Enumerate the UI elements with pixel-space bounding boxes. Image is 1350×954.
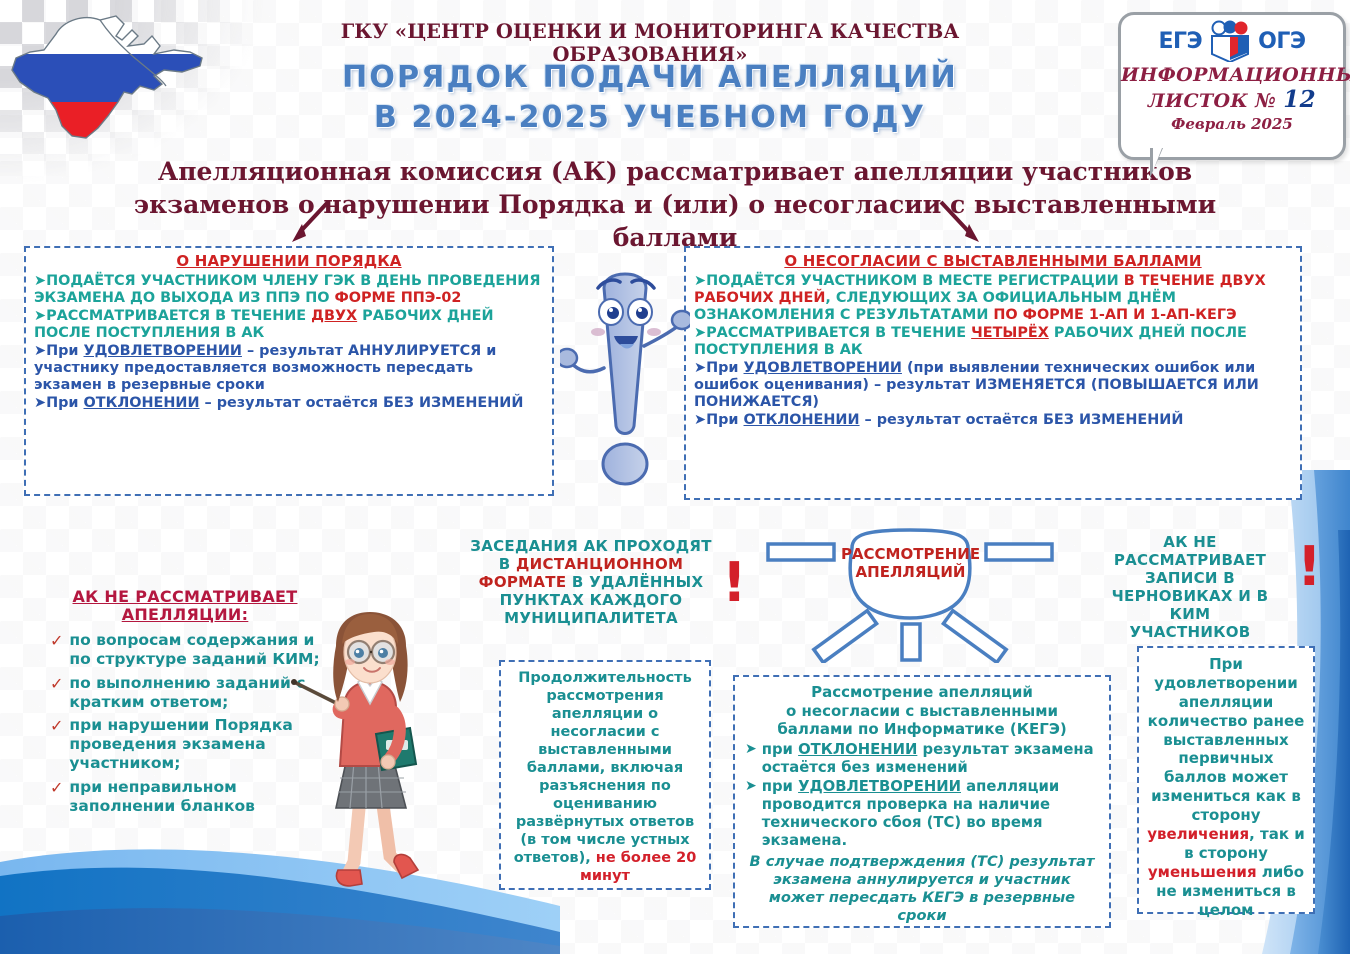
bullet-arrow-icon: ➤ (34, 308, 46, 324)
not-considered-item-1: по вопросам содержания и по структуре за… (69, 631, 320, 669)
kege-title-line2: о несогласии с выставленными (745, 702, 1099, 721)
points-text-1: При удовлетворении апелляции количество … (1148, 655, 1305, 824)
bubble-line-date: Февраль 2025 (1121, 115, 1343, 133)
crimea-map-russian-flag-icon (4, 6, 222, 151)
disagreement-box-heading: О НЕСОГЛАСИИ С ВЫСТАВЛЕННЫМИ БАЛЛАМИ (694, 252, 1292, 270)
kege-item-1-a: при (762, 741, 798, 758)
violation-item-4-part-1: При (46, 395, 83, 411)
points-text-accent-increase: увеличения (1147, 825, 1249, 843)
remote-note-line1: ЗАСЕДАНИЯ АК ПРОХОДЯТ (466, 537, 716, 555)
sheet-number: 12 (1283, 86, 1316, 113)
infographic-poster: ГКУ «ЦЕНТР ОЦЕНКИ И МОНИТОРИНГА КАЧЕСТВА… (0, 0, 1350, 954)
remote-note-line2: В ДИСТАНЦИОННОМ (466, 555, 716, 573)
disagreement-item-2-highlight: ЧЕТЫРЁХ (971, 325, 1049, 341)
disagreement-item-3: ➤При УДОВЛЕТВОРЕНИИ (при выявлении техни… (694, 360, 1292, 411)
disagreement-item-2-part-1: РАССМАТРИВАЕТСЯ В ТЕЧЕНИЕ (706, 325, 971, 341)
not-considered-heading: АК НЕ РАССМАТРИВАЕТ АПЕЛЛЯЦИИ: (50, 588, 320, 625)
violation-item-2-part-1: РАССМАТРИВАЕТСЯ В ТЕЧЕНИЕ (46, 308, 311, 324)
disagreement-item-4-highlight: ОТКЛОНЕНИИ (744, 412, 860, 428)
kege-item-1: ➤ при ОТКЛОНЕНИИ результат экзамена оста… (745, 741, 1099, 777)
remote-note-line3: ФОРМАТЕ В УДАЛЁННЫХ (466, 573, 716, 591)
disagreement-item-4-part-3: – результат остаётся БЕЗ ИЗМЕНЕНИЙ (860, 412, 1184, 428)
drafts-note-line3: ЗАПИСИ В (1090, 569, 1290, 587)
remote-note-line3-a: В УДАЛЁННЫХ (566, 573, 703, 591)
kege-title-line3: баллами по Информатике (КЕГЭ) (745, 720, 1099, 739)
drafts-note-line1: АК НЕ (1090, 533, 1290, 551)
disagreement-item-1: ➤ПОДАЁТСЯ УЧАСТНИКОМ В МЕСТЕ РЕГИСТРАЦИИ… (694, 273, 1292, 324)
drafts-note-line4: ЧЕРНОВИКАХ И В КИМ (1090, 587, 1290, 623)
violation-item-4-part-3: – результат остаётся БЕЗ ИЗМЕНЕНИЙ (200, 395, 524, 411)
bullet-arrow-icon: ➤ (34, 395, 46, 411)
kege-title-line1: Рассмотрение апелляций (745, 683, 1099, 702)
bullet-arrow-icon: ➤ (694, 360, 706, 376)
remote-sessions-note: ЗАСЕДАНИЯ АК ПРОХОДЯТ В ДИСТАНЦИОННОМ ФО… (466, 537, 716, 627)
kege-item-1-highlight: ОТКЛОНЕНИИ (798, 741, 917, 758)
shield-line2: АПЕЛЛЯЦИЙ (838, 563, 983, 581)
drafts-not-considered-note: АК НЕ РАССМАТРИВАЕТ ЗАПИСИ В ЧЕРНОВИКАХ … (1090, 533, 1290, 641)
bullet-arrow-icon: ➤ (34, 343, 46, 359)
disagreement-item-2: ➤РАССМАТРИВАЕТСЯ В ТЕЧЕНИЕ ЧЕТЫРЁХ РАБОЧ… (694, 325, 1292, 359)
ege-oge-logo: ЕГЭ ОГЭ (1121, 19, 1343, 63)
points-box-text: При удовлетворении апелляции количество … (1147, 655, 1305, 919)
drafts-note-line5: УЧАСТНИКОВ (1090, 623, 1290, 641)
check-icon: ✓ (50, 778, 63, 816)
violation-item-1-part-1: ПОДАЁТСЯ УЧАСТНИКОМ ЧЛЕНУ ГЭК В ДЕНЬ ПРО… (34, 273, 540, 306)
remote-note-line3-accent: ФОРМАТЕ (479, 573, 567, 591)
violation-box-heading: О НАРУШЕНИИ ПОРЯДКА (34, 252, 544, 270)
list-item: ✓ по вопросам содержания и по структуре … (50, 631, 320, 669)
disagreement-item-1-highlight-2: ПО ФОРМЕ 1-АП И 1-АП-КЕГЭ (993, 307, 1236, 323)
violation-item-2: ➤РАССМАТРИВАЕТСЯ В ТЕЧЕНИЕ ДВУХ РАБОЧИХ … (34, 308, 544, 342)
bullet-arrow-icon: ➤ (745, 778, 757, 850)
ege-oge-emblem-icon (1204, 20, 1256, 62)
oge-label: ОГЭ (1258, 29, 1305, 54)
bullet-arrow-icon: ➤ (34, 273, 46, 289)
sheet-label: ЛИСТОК № (1148, 90, 1283, 112)
arrow-to-left-box (286, 198, 336, 248)
violation-of-order-box: О НАРУШЕНИИ ПОРЯДКА ➤ПОДАЁТСЯ УЧАСТНИКОМ… (24, 246, 554, 496)
list-item: ✓ при нарушении Порядка проведения экзам… (50, 716, 320, 773)
check-icon: ✓ (50, 674, 63, 712)
arrow-to-right-box (935, 198, 985, 248)
page-title-line2: В 2024-2025 УЧЕБНОМ ГОДУ (300, 98, 1000, 138)
points-change-box: При удовлетворении апелляции количество … (1137, 646, 1315, 914)
violation-item-4: ➤При ОТКЛОНЕНИИ – результат остаётся БЕЗ… (34, 395, 544, 412)
remote-note-line4: ПУНКТАХ КАЖДОГО (466, 591, 716, 609)
bubble-tail-inner (1153, 148, 1173, 171)
violation-item-1-part-2: ФОРМЕ ППЭ-02 (334, 290, 461, 306)
not-considered-heading-line1: АК НЕ РАССМАТРИВАЕТ (50, 588, 320, 606)
kege-item-2-highlight: УДОВЛЕТВОРЕНИИ (798, 778, 961, 795)
bottom-left-wave-decoration (0, 820, 560, 954)
info-sheet-bubble: ЕГЭ ОГЭ ИНФОРМАЦИОННЫЙ ЛИСТОК № 12 Февра… (1118, 12, 1346, 160)
exclamation-mark-right: ! (1297, 545, 1322, 588)
teacher-girl-with-pointer-icon (290, 612, 465, 902)
bullet-arrow-icon: ➤ (745, 741, 757, 777)
subtitle-line2: экзаменов о нарушении Порядка и (или) о … (95, 188, 1255, 254)
exclamation-mark-mascot-icon (560, 258, 690, 486)
list-item: ✓ по выполнению заданий с кратким ответо… (50, 674, 320, 712)
violation-item-2-highlight: ДВУХ (311, 308, 357, 324)
kege-box-title: Рассмотрение апелляций о несогласии с вы… (745, 683, 1099, 739)
violation-item-4-highlight: ОТКЛОНЕНИИ (84, 395, 200, 411)
kege-box-footer: В случае подтверждения (ТС) результат эк… (745, 853, 1099, 925)
ege-label: ЕГЭ (1158, 29, 1202, 54)
disagreement-item-1-part-1: ПОДАЁТСЯ УЧАСТНИКОМ В МЕСТЕ РЕГИСТРАЦИИ (706, 273, 1124, 289)
review-appeals-shield-label: РАССМОТРЕНИЕ АПЕЛЛЯЦИЙ (838, 545, 983, 581)
kege-review-box: Рассмотрение апелляций о несогласии с вы… (733, 675, 1111, 928)
page-title: ПОРЯДОК ПОДАЧИ АПЕЛЛЯЦИЙ В 2024-2025 УЧЕ… (300, 58, 1000, 138)
duration-box: Продолжительность рассмотрения апелляции… (499, 660, 711, 890)
violation-item-3-highlight: УДОВЛЕТВОРЕНИИ (84, 343, 242, 359)
bubble-line-informational: ИНФОРМАЦИОННЫЙ (1121, 64, 1343, 86)
bullet-arrow-icon: ➤ (694, 325, 706, 341)
remote-note-line2-a: В (499, 555, 516, 573)
kege-item-2-a: при (762, 778, 798, 795)
subtitle-line1: Апелляционная комиссия (АК) рассматривае… (95, 155, 1255, 188)
exclamation-mark-left: ! (722, 561, 747, 604)
disagreement-item-3-highlight: УДОВЛЕТВОРЕНИИ (744, 360, 902, 376)
disagreement-with-scores-box: О НЕСОГЛАСИИ С ВЫСТАВЛЕННЫМИ БАЛЛАМИ ➤ПО… (684, 246, 1302, 500)
not-considered-item-4: при неправильном заполнении бланков (69, 778, 320, 816)
check-icon: ✓ (50, 716, 63, 773)
not-considered-block: АК НЕ РАССМАТРИВАЕТ АПЕЛЛЯЦИИ: ✓ по вопр… (50, 588, 320, 816)
remote-note-line5: МУНИЦИПАЛИТЕТА (466, 609, 716, 627)
subtitle: Апелляционная комиссия (АК) рассматривае… (95, 155, 1255, 254)
duration-text-main: Продолжительность рассмотрения апелляции… (514, 670, 694, 866)
not-considered-heading-line2: АПЕЛЛЯЦИИ: (50, 606, 320, 624)
duration-text-accent: не более 20 минут (580, 850, 696, 884)
duration-box-text: Продолжительность рассмотрения апелляции… (510, 670, 700, 886)
disagreement-item-4-part-1: При (706, 412, 743, 428)
points-text-accent-decrease: уменьшения (1148, 863, 1257, 881)
drafts-note-line2: РАССМАТРИВАЕТ (1090, 551, 1290, 569)
remote-note-line2-accent: ДИСТАНЦИОННОМ (516, 555, 683, 573)
shield-line1: РАССМОТРЕНИЕ (838, 545, 983, 563)
violation-item-3-part-1: При (46, 343, 83, 359)
disagreement-item-3-part-1: При (706, 360, 743, 376)
not-considered-item-2: по выполнению заданий с кратким ответом; (69, 674, 320, 712)
check-icon: ✓ (50, 631, 63, 669)
not-considered-item-3: при нарушении Порядка проведения экзамен… (69, 716, 320, 773)
kege-item-2: ➤ при УДОВЛЕТВОРЕНИИ апелляции проводитс… (745, 778, 1099, 850)
bubble-line-sheet-number: ЛИСТОК № 12 (1121, 86, 1343, 113)
bullet-arrow-icon: ➤ (694, 273, 706, 289)
violation-item-3: ➤При УДОВЛЕТВОРЕНИИ – результат АННУЛИРУ… (34, 343, 544, 394)
bullet-arrow-icon: ➤ (694, 412, 706, 428)
violation-item-1: ➤ПОДАЁТСЯ УЧАСТНИКОМ ЧЛЕНУ ГЭК В ДЕНЬ ПР… (34, 273, 544, 307)
page-title-line1: ПОРЯДОК ПОДАЧИ АПЕЛЛЯЦИЙ (300, 58, 1000, 98)
list-item: ✓ при неправильном заполнении бланков (50, 778, 320, 816)
disagreement-item-4: ➤При ОТКЛОНЕНИИ – результат остаётся БЕЗ… (694, 412, 1292, 429)
